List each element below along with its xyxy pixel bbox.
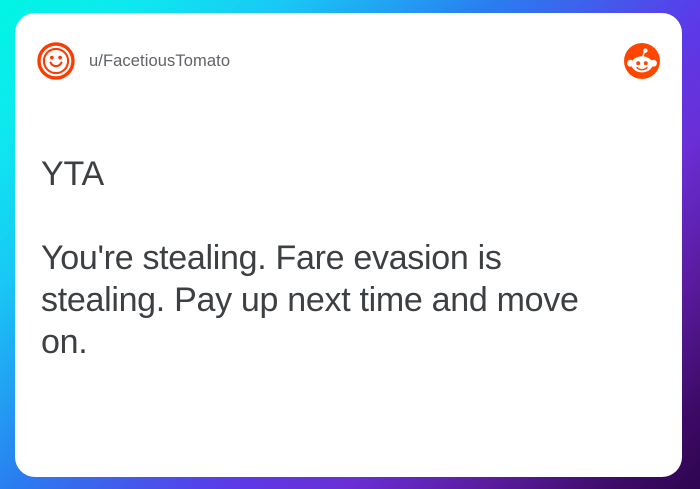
reddit-comment-card: u/FacetiousTomato YTA You're bbox=[15, 13, 682, 477]
author-username: u/FacetiousTomato bbox=[89, 53, 230, 70]
verdict-text: YTA bbox=[41, 153, 644, 195]
author-block[interactable]: u/FacetiousTomato bbox=[37, 42, 624, 80]
reddit-snoo-icon[interactable] bbox=[624, 43, 660, 79]
smiley-face-icon bbox=[37, 42, 75, 80]
card-body: YTA You're stealing. Fare evasion is ste… bbox=[15, 109, 682, 477]
screenshot-root: u/FacetiousTomato YTA You're bbox=[0, 0, 700, 489]
card-header: u/FacetiousTomato bbox=[15, 13, 682, 109]
comment-body-text: You're stealing. Fare evasion is stealin… bbox=[41, 237, 621, 363]
